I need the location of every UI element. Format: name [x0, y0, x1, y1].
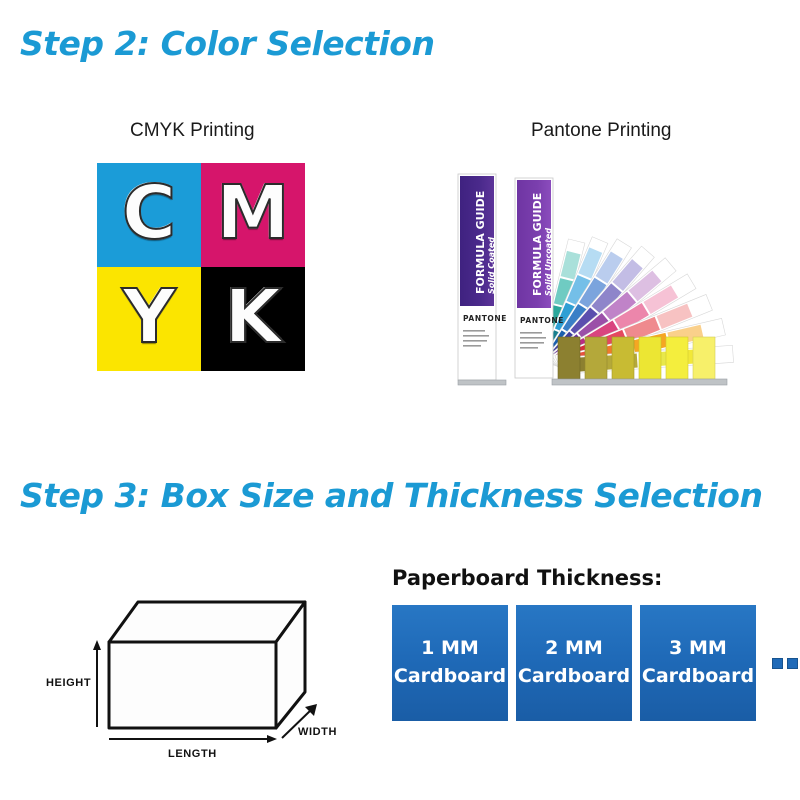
- pantone-fan-deck-image: FORMULA GUIDE Solid Uncoated PANTONE FOR…: [440, 160, 750, 390]
- paperboard-thickness-section: Paperboard Thickness: 1 MM Cardboard 2 M…: [392, 566, 792, 736]
- svg-text:PANTONE: PANTONE: [463, 314, 507, 323]
- height-arrow: [93, 640, 101, 727]
- length-label: LENGTH: [168, 748, 217, 760]
- length-arrow: [109, 735, 277, 743]
- cmyk-cell-magenta: M: [201, 163, 305, 267]
- thickness-value-1mm: 1 MM: [421, 635, 479, 663]
- height-label: HEIGHT: [46, 677, 91, 689]
- paperboard-thickness-heading: Paperboard Thickness:: [392, 566, 662, 590]
- cmyk-letter-y: Y: [122, 280, 176, 354]
- ellipsis-square-1: [772, 658, 783, 669]
- cmyk-printing-caption: CMYK Printing: [130, 120, 255, 142]
- thickness-material-1mm: Cardboard: [394, 663, 506, 691]
- svg-text:Solid Coated: Solid Coated: [487, 237, 496, 294]
- svg-text:Solid Uncoated: Solid Uncoated: [544, 228, 553, 296]
- thickness-value-2mm: 2 MM: [545, 635, 603, 663]
- cmyk-letter-k: K: [224, 280, 281, 354]
- thickness-material-3mm: Cardboard: [642, 663, 754, 691]
- cmyk-color-block: C M Y K: [97, 163, 305, 371]
- thickness-option-1mm[interactable]: 1 MM Cardboard: [392, 605, 508, 721]
- step-2-heading: Step 2: Color Selection: [20, 24, 434, 63]
- thickness-material-2mm: Cardboard: [518, 663, 630, 691]
- pantone-guide-solid-coated: FORMULA GUIDE Solid Coated PANTONE: [458, 174, 507, 385]
- box-front-face: [109, 642, 276, 728]
- box-top-face: [109, 602, 305, 642]
- more-thickness-options-indicator: [772, 658, 800, 669]
- ellipsis-square-2: [787, 658, 798, 669]
- slide-canvas: Step 2: Color Selection CMYK Printing Pa…: [0, 0, 800, 800]
- thickness-option-list: 1 MM Cardboard 2 MM Cardboard 3 MM Cardb…: [392, 605, 800, 721]
- svg-text:FORMULA GUIDE: FORMULA GUIDE: [531, 193, 544, 296]
- cmyk-cell-black: K: [201, 267, 305, 371]
- cmyk-letter-m: M: [216, 176, 290, 250]
- thickness-option-3mm[interactable]: 3 MM Cardboard: [640, 605, 756, 721]
- width-label: WIDTH: [298, 726, 337, 738]
- cmyk-cell-yellow: Y: [97, 267, 201, 371]
- pantone-base-plate: [552, 379, 727, 385]
- svg-text:PANTONE: PANTONE: [520, 316, 564, 325]
- svg-text:FORMULA GUIDE: FORMULA GUIDE: [474, 191, 487, 294]
- thickness-value-3mm: 3 MM: [669, 635, 727, 663]
- cmyk-cell-cyan: C: [97, 163, 201, 267]
- step-3-heading: Step 3: Box Size and Thickness Selection: [20, 476, 762, 515]
- thickness-option-2mm[interactable]: 2 MM Cardboard: [516, 605, 632, 721]
- pantone-printing-caption: Pantone Printing: [531, 120, 672, 142]
- cmyk-letter-c: C: [122, 176, 176, 250]
- box-dimensions-diagram: HEIGHT LENGTH WIDTH: [30, 580, 370, 770]
